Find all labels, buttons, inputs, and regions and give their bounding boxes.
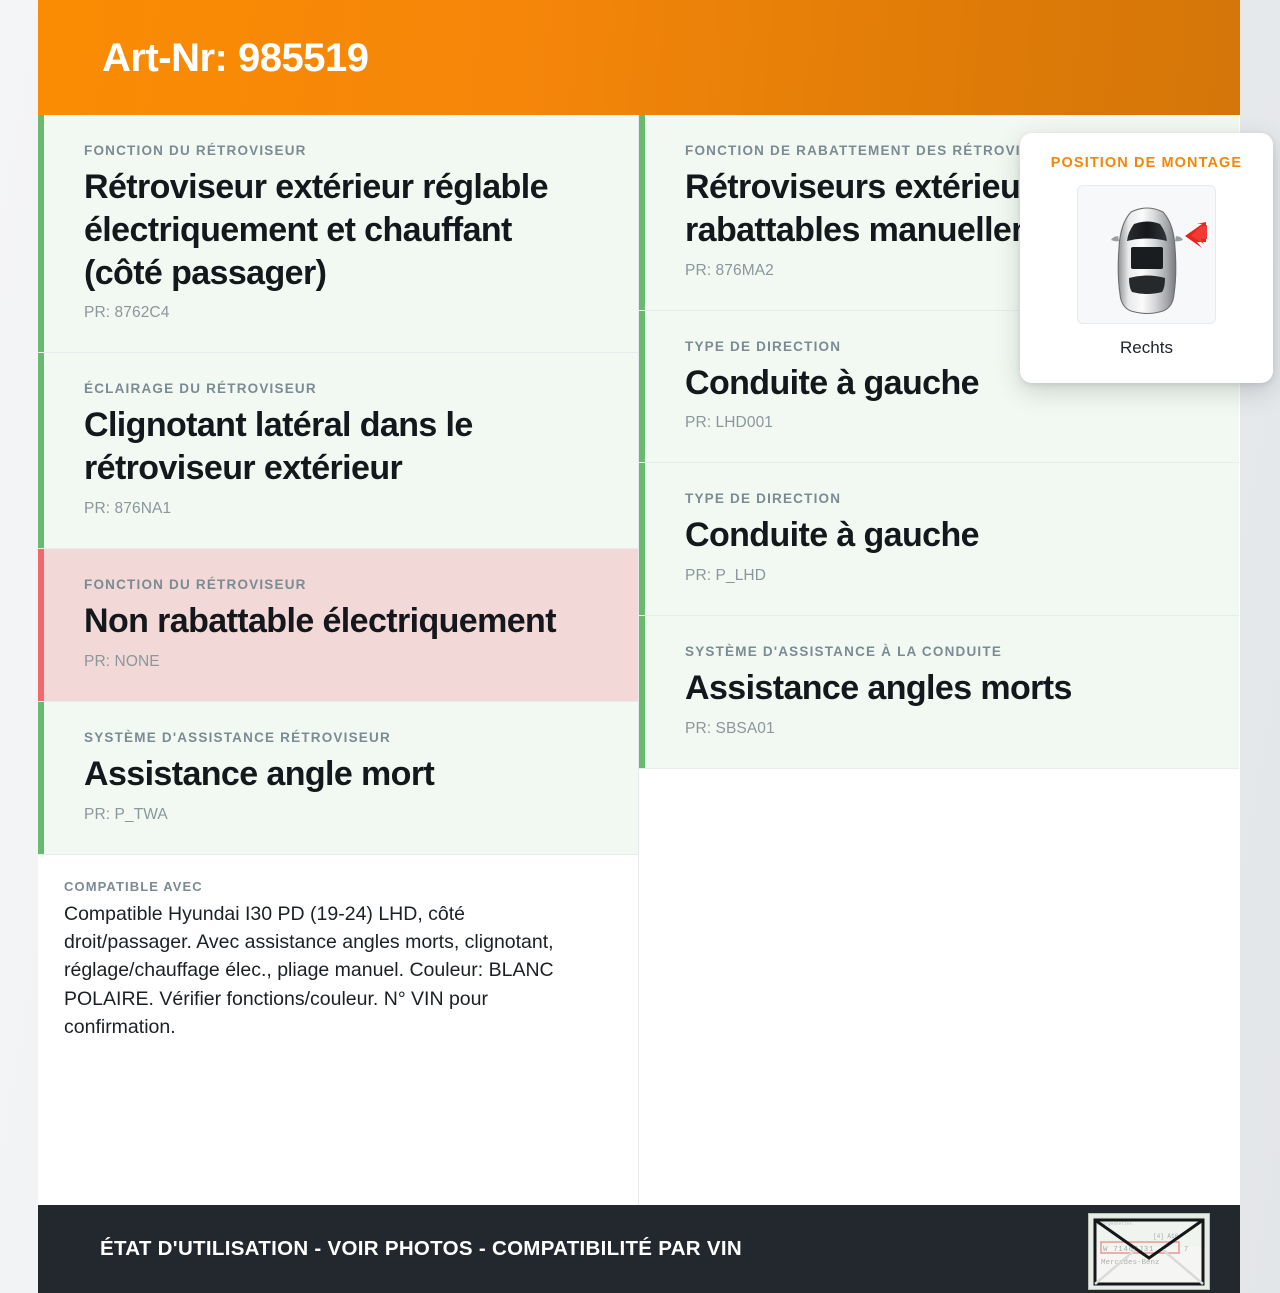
spec-card-pr-code: PR: NONE	[84, 653, 594, 671]
spec-card-title: Rétroviseur extérieur réglable électriqu…	[84, 166, 594, 294]
spec-card-pr-code: PR: SBSA01	[685, 720, 1195, 738]
mounting-position-side-label: Rechts	[1120, 338, 1173, 358]
envelope-over-vehicle-registration-icon: Fahrgestellnr. [4] A16 W 71463J31 7 Merc…	[1089, 1214, 1209, 1289]
spec-card-mirror-lighting[interactable]: ÉCLAIRAGE DU RÉTROVISEUR Clignotant laté…	[38, 353, 638, 549]
footer-bar: ÉTAT D'UTILISATION - VOIR PHOTOS - COMPA…	[38, 1205, 1240, 1293]
mounting-position-card[interactable]: POSITION DE MONTAGE	[1020, 133, 1273, 383]
spec-card-steering-type-2[interactable]: TYPE DE DIRECTION Conduite à gauche PR: …	[639, 463, 1239, 616]
car-mirror-right	[1175, 236, 1183, 241]
car-mirror-left	[1111, 236, 1119, 241]
compatibility-text: Compatible Hyundai I30 PD (19-24) LHD, c…	[64, 900, 594, 1041]
spec-card-title: Assistance angle mort	[84, 753, 594, 796]
spec-card-mirror-assist[interactable]: SYSTÈME D'ASSISTANCE RÉTROVISEUR Assista…	[38, 702, 638, 855]
spec-card-title: Conduite à gauche	[685, 514, 1195, 557]
red-arrow-right-icon	[1185, 222, 1207, 248]
spec-card-mirror-function-1[interactable]: FONCTION DU RÉTROVISEUR Rétroviseur exté…	[38, 115, 638, 353]
vin-envelope-badge[interactable]: Fahrgestellnr. [4] A16 W 71463J31 7 Merc…	[1088, 1213, 1210, 1290]
header-bar: Art-Nr: 985519	[38, 0, 1240, 115]
left-spec-column: FONCTION DU RÉTROVISEUR Rétroviseur exté…	[38, 115, 639, 1205]
spec-card-title: Assistance angles morts	[685, 667, 1195, 710]
spec-card-label: ÉCLAIRAGE DU RÉTROVISEUR	[84, 381, 594, 396]
spec-card-title: Non rabattable électriquement	[84, 600, 594, 643]
page-title: Art-Nr: 985519	[102, 38, 368, 78]
spec-card-driver-assist[interactable]: SYSTÈME D'ASSISTANCE À LA CONDUITE Assis…	[639, 616, 1239, 769]
spec-card-label: SYSTÈME D'ASSISTANCE À LA CONDUITE	[685, 644, 1195, 659]
spec-card-pr-code: PR: 876NA1	[84, 500, 594, 518]
car-top-view-icon	[1084, 192, 1210, 318]
car-rear-window	[1129, 275, 1165, 294]
spec-card-label: SYSTÈME D'ASSISTANCE RÉTROVISEUR	[84, 730, 594, 745]
compatibility-label: COMPATIBLE AVEC	[64, 879, 594, 894]
right-column-spacer	[639, 769, 1239, 1205]
spec-card-pr-code: PR: P_TWA	[84, 806, 594, 824]
spec-card-pr-code: PR: P_LHD	[685, 567, 1195, 585]
car-roof-panel	[1131, 247, 1163, 269]
spec-card-label: FONCTION DU RÉTROVISEUR	[84, 143, 594, 158]
compatibility-section: COMPATIBLE AVEC Compatible Hyundai I30 P…	[38, 855, 638, 1067]
left-column-spacer	[38, 1067, 638, 1205]
spec-columns: FONCTION DU RÉTROVISEUR Rétroviseur exté…	[38, 115, 1240, 1205]
product-info-page: Art-Nr: 985519 FONCTION DU RÉTROVISEUR R…	[38, 0, 1240, 1293]
mounting-position-title: POSITION DE MONTAGE	[1051, 155, 1242, 171]
spec-card-label: FONCTION DU RÉTROVISEUR	[84, 577, 594, 592]
footer-notice: ÉTAT D'UTILISATION - VOIR PHOTOS - COMPA…	[100, 1237, 742, 1261]
mounting-position-image-box	[1077, 185, 1216, 324]
spec-card-label: TYPE DE DIRECTION	[685, 491, 1195, 506]
spec-card-pr-code: PR: LHD001	[685, 414, 1195, 432]
spec-card-title: Clignotant latéral dans le rétroviseur e…	[84, 404, 594, 490]
spec-card-pr-code: PR: 8762C4	[84, 304, 594, 322]
spec-card-mirror-function-2[interactable]: FONCTION DU RÉTROVISEUR Non rabattable é…	[38, 549, 638, 702]
